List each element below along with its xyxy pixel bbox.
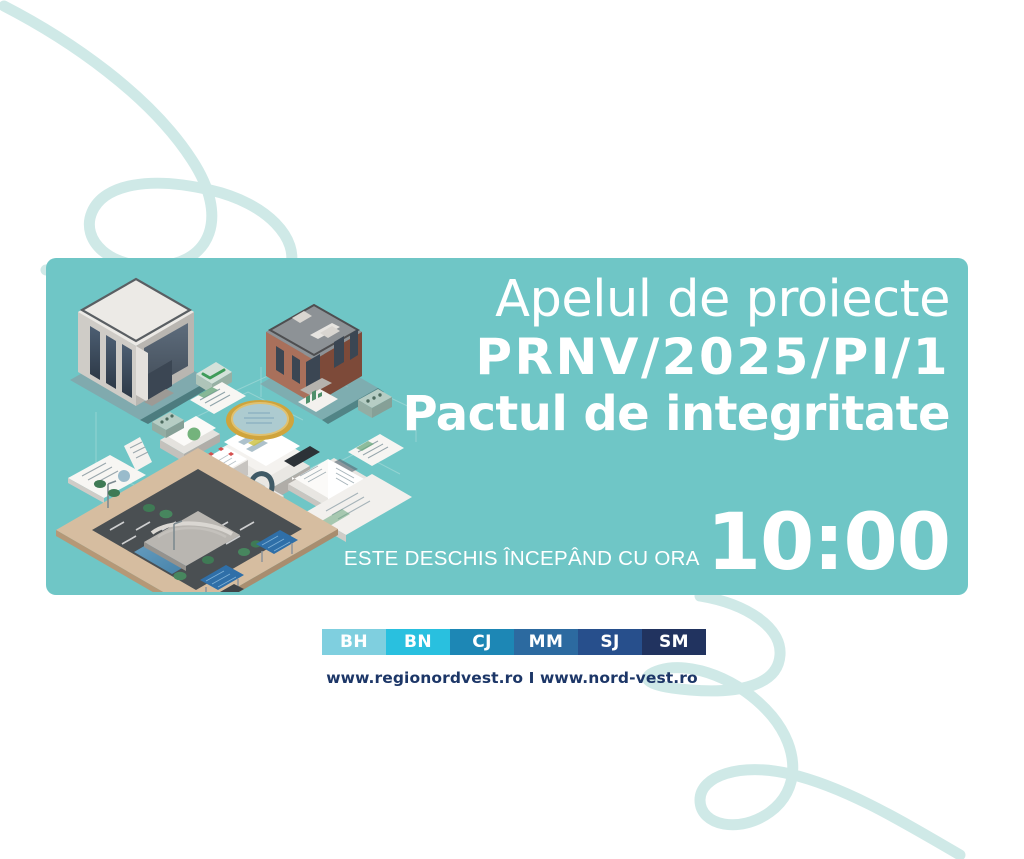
- logo-strip: Cofinanțat de Uniunea Europeană GUVERNUL…: [0, 172, 1024, 238]
- headline-line-2-call-code: PRNV/2025/PI/1: [390, 328, 950, 386]
- headline-line-3-subject: Pactul de integritate: [390, 386, 950, 442]
- headline-line-1: Apelul de proiecte: [390, 272, 950, 328]
- wave-top-left: [4, 6, 292, 293]
- opening-time-block: ESTE DESCHIS ÎNCEPÂND CU ORA 10:00: [344, 507, 950, 579]
- county-chip-sm: SM: [642, 629, 706, 655]
- county-chip-bh: BH: [322, 629, 386, 655]
- county-chip-mm: MM: [514, 629, 578, 655]
- opening-time-value: 10:00: [707, 507, 950, 579]
- poster-canvas: Cofinanțat de Uniunea Europeană GUVERNUL…: [0, 0, 1024, 859]
- county-chip-bn: BN: [386, 629, 450, 655]
- panel-headline-block: Apelul de proiecte PRNV/2025/PI/1 Pactul…: [390, 272, 950, 442]
- footer-urls[interactable]: www.regionordvest.ro I www.nord-vest.ro: [0, 669, 1024, 687]
- county-codes-bar: BHBNCJMMSJSM: [322, 629, 706, 655]
- announcement-panel: Apelul de proiecte PRNV/2025/PI/1 Pactul…: [46, 258, 968, 595]
- county-chip-cj: CJ: [450, 629, 514, 655]
- opening-time-label: ESTE DESCHIS ÎNCEPÂND CU ORA: [344, 547, 700, 579]
- county-chip-sj: SJ: [578, 629, 642, 655]
